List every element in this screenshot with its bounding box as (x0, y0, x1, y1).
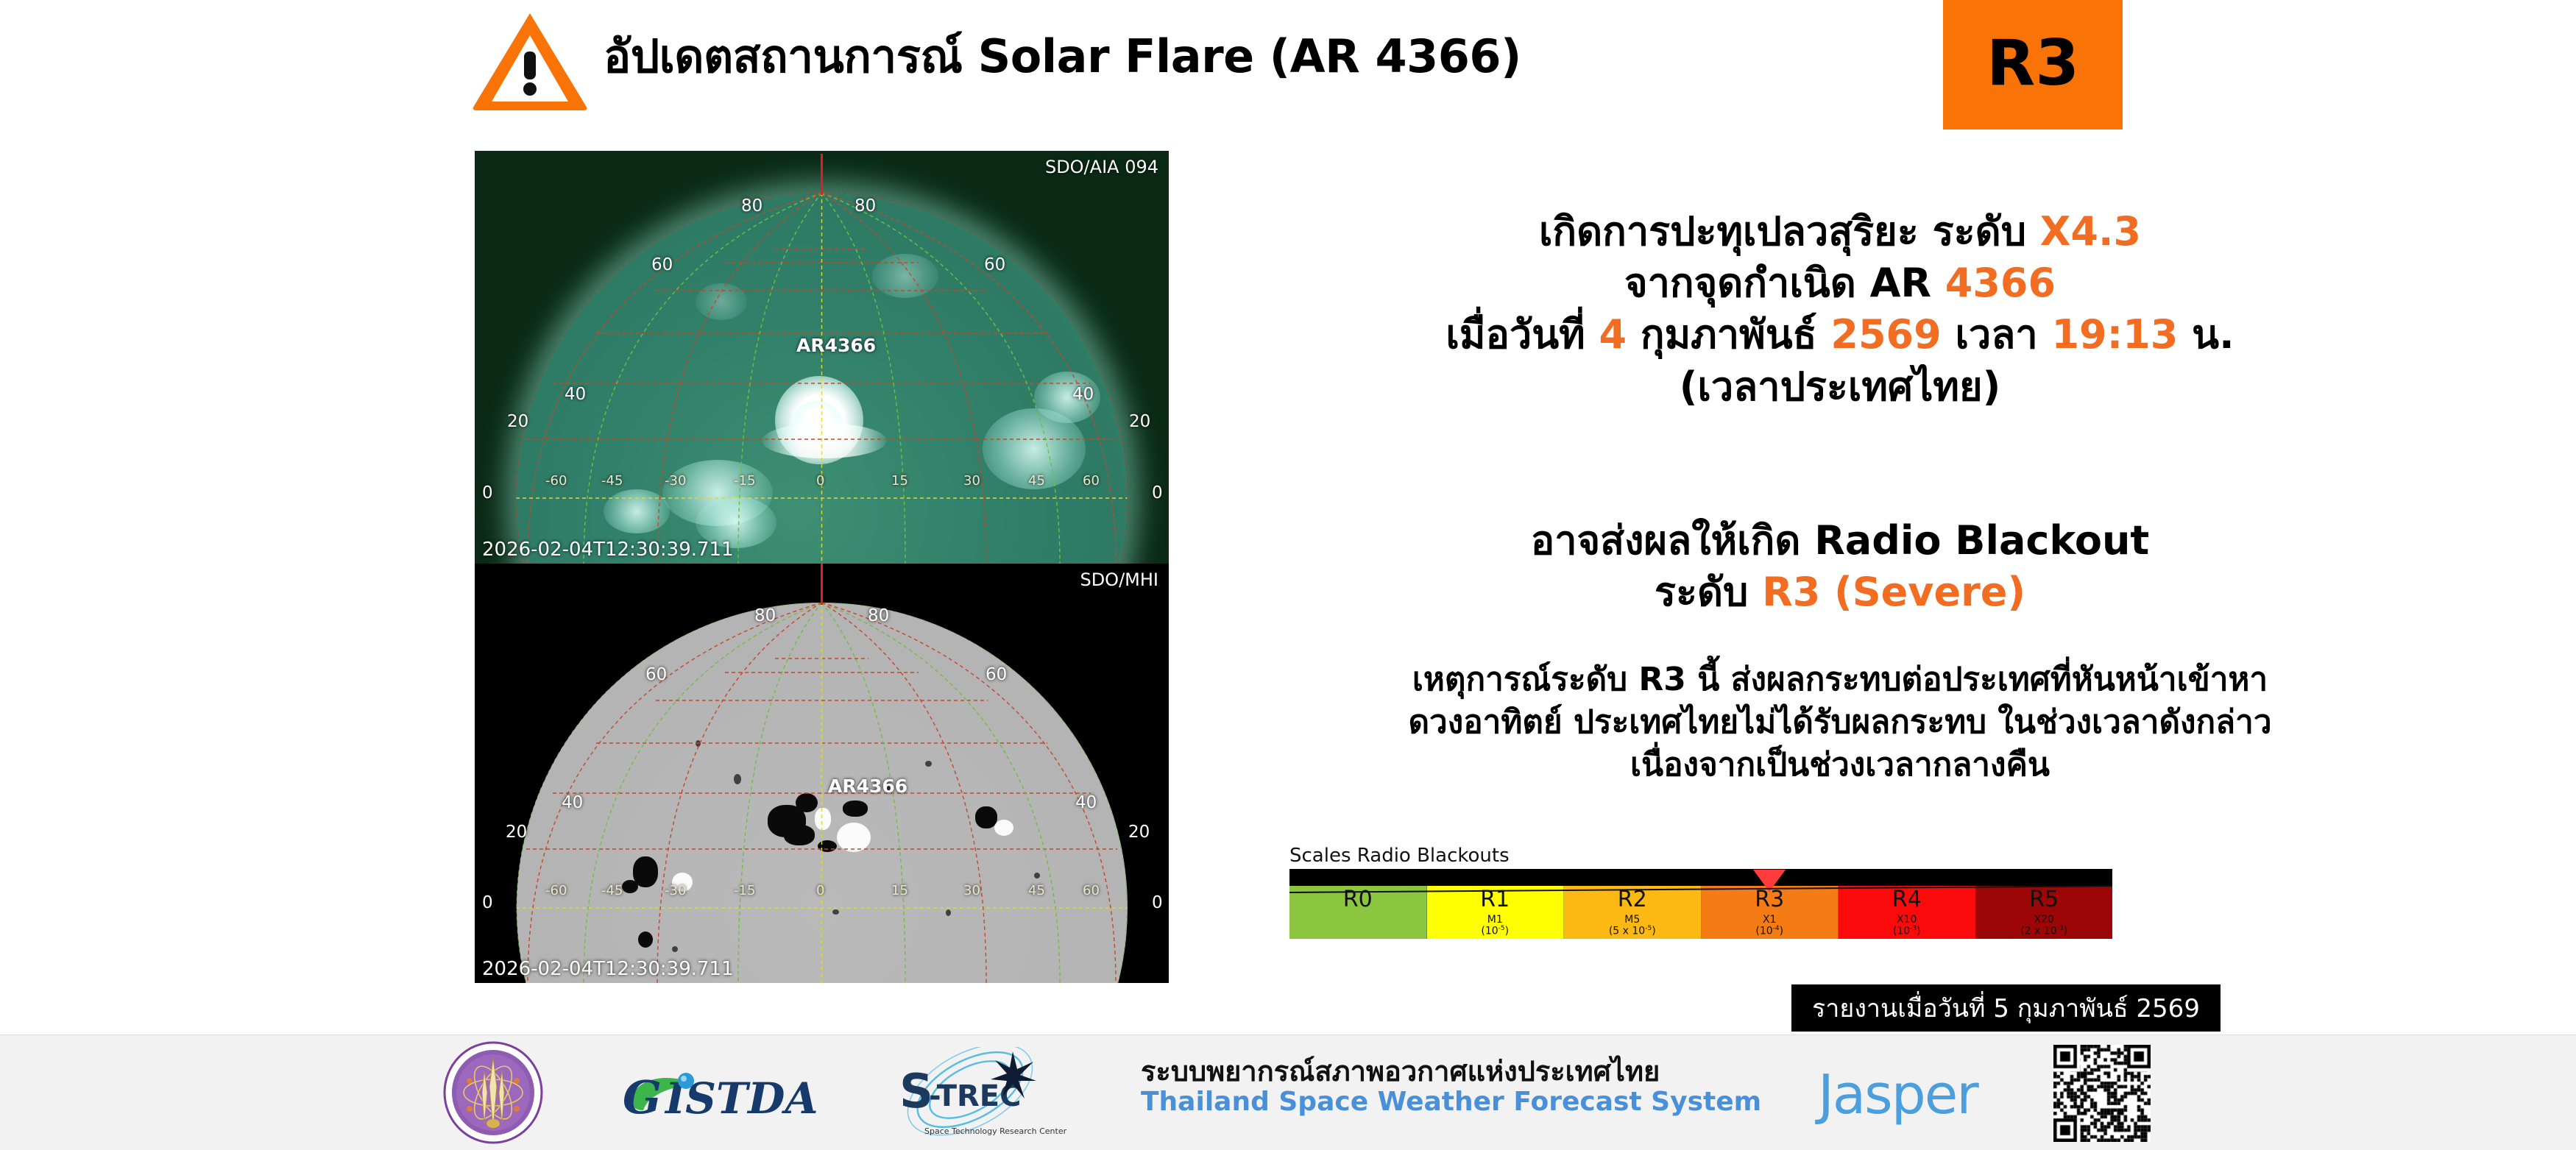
aia-lon-m60: -60 (545, 473, 567, 489)
aia-lon-m45: -45 (601, 473, 623, 489)
hmi-lat-60-left: 60 (645, 665, 667, 684)
aia-lat-40-left: 40 (565, 385, 586, 404)
report-date-label: รายงานเมื่อวันที่ 5 กุมภาพันธ์ 2569 (1812, 988, 2200, 1028)
impact-description: เหตุการณ์ระดับ R3 นี้ ส่งผลกระทบต่อประเท… (1163, 659, 2517, 787)
flare-origin-value: 4366 (1945, 260, 2056, 306)
page-header: อัปเดตสถานการณ์ Solar Flare (AR 4366) R3 (0, 0, 2576, 132)
aia-lat-60-right: 60 (984, 255, 1005, 274)
flare-origin-prefix: จากจุดกำเนิด AR (1624, 260, 1945, 306)
radio-blackout-level-line: ระดับ R3 (Severe) (1192, 567, 2488, 618)
aia-lat-20-left: 20 (507, 412, 528, 431)
hmi-lon-m45: -45 (601, 883, 623, 898)
hmi-lon-m30: -30 (665, 883, 686, 898)
strec-logo: S -TREC Space Technology Research Center (883, 1047, 1067, 1141)
hmi-lat-20-right: 20 (1128, 823, 1150, 842)
solar-image-hmi[interactable]: SDO/MHI AR4366 2026-02-04T12:30:39.711 8… (475, 564, 1169, 983)
date-prefix: เมื่อวันที่ (1446, 311, 1599, 358)
hmi-lon-0: 0 (816, 883, 824, 898)
solar-image-panels: SDO/AIA 094 AR4366 2026-02-04T12:30:39.7… (475, 151, 1169, 983)
report-date-box: รายงานเมื่อวันที่ 5 กุมภาพันธ์ 2569 (1791, 984, 2221, 1032)
scale-sublabels-row: M1(10-5)M5(5 x 10-5)X1(10-4)X10(10-3)X20… (1289, 912, 2112, 939)
hmi-timestamp: 2026-02-04T12:30:39.711 (482, 958, 734, 980)
scale-sublabel-r1: M1(10-5) (1427, 912, 1565, 939)
brand-name-thai: ระบบพยากรณ์สภาพอวกาศแห่งประเทศไทย (1141, 1056, 1761, 1087)
scale-sublabel-r5: X20(2 x 10-3) (1976, 912, 2113, 939)
heliographic-grid-overlay (475, 151, 1169, 564)
impact-para-line-3: เนื่องจากเป็นช่วงเวลากลางคืน (1163, 744, 2517, 787)
flare-class-value: X4.3 (2040, 208, 2141, 255)
flare-class-prefix: เกิดการปะทุเปลวสุริยะ ระดับ (1539, 208, 2040, 255)
warning-triangle-icon (471, 9, 589, 112)
aia-lon-60: 60 (1083, 473, 1100, 489)
hmi-lon-45: 45 (1028, 883, 1045, 898)
timezone-note: (เวลาประเทศไทย) (1192, 361, 2488, 413)
radio-blackout-line: อาจส่งผลให้เกิด Radio Blackout (1192, 515, 2488, 567)
page-footer: G ISTDA S -TREC Space Technology Researc… (0, 1034, 2576, 1150)
hmi-lon-m60: -60 (545, 883, 567, 898)
date-month: กุมภาพันธ์ (1627, 311, 1830, 358)
scale-sublabel-r3: X1(10-4) (1702, 912, 1839, 939)
scale-cell-r0: R0 (1289, 886, 1427, 912)
hmi-lon-60: 60 (1083, 883, 1100, 898)
mhesi-logo (442, 1041, 545, 1144)
hmi-source-label: SDO/MHI (1080, 569, 1158, 590)
aia-lon-15: 15 (891, 473, 908, 489)
impact-para-line-2: ดวงอาทิตย์ ประเทศไทยไม่ได้รับผลกระทบ ในช… (1163, 701, 2517, 744)
hmi-region-label: AR4366 (828, 775, 907, 797)
hmi-lat-0-left: 0 (482, 893, 493, 912)
aia-timestamp: 2026-02-04T12:30:39.711 (482, 539, 734, 561)
aia-lon-0: 0 (816, 473, 824, 489)
hmi-lat-40-left: 40 (562, 793, 583, 812)
gistda-logo: G ISTDA (618, 1062, 839, 1125)
scale-sublabel-r4: X10(10-3) (1839, 912, 1976, 939)
brand-name-english: Thailand Space Weather Forecast System (1141, 1087, 1761, 1117)
time-suffix: น. (2178, 311, 2234, 358)
aia-lat-80-left: 80 (741, 196, 762, 216)
scale-caption: Scales Radio Blackouts (1289, 845, 2112, 867)
scale-sublabel-r2: M5(5 x 10-5) (1564, 912, 1702, 939)
aia-source-label: SDO/AIA 094 (1045, 157, 1158, 177)
aia-lon-45: 45 (1028, 473, 1045, 489)
hmi-lon-m15: -15 (734, 883, 755, 898)
aia-lon-30: 30 (963, 473, 980, 489)
aia-lon-m30: -30 (665, 473, 686, 489)
jasper-logo-text: Jasper (1818, 1063, 1978, 1126)
impact-block: อาจส่งผลให้เกิด Radio Blackout ระดับ R3 … (1192, 515, 2488, 618)
hmi-lat-20-left: 20 (506, 823, 527, 842)
qr-code[interactable] (2053, 1045, 2151, 1142)
aia-region-label: AR4366 (796, 335, 876, 356)
radio-blackout-scale: Scales Radio Blackouts R0R1R2R3R4R5 M1(1… (1289, 845, 2112, 939)
hmi-lat-80-left: 80 (754, 606, 776, 625)
status-badge-r3: R3 (1943, 0, 2123, 129)
scale-cell-r5: R5 (1976, 886, 2113, 912)
flare-origin-line: จากจุดกำเนิด AR 4366 (1192, 258, 2488, 309)
date-day: 4 (1599, 311, 1627, 358)
time-value: 19:13 (2051, 311, 2178, 358)
aia-lon-m15: -15 (734, 473, 755, 489)
hmi-lon-15: 15 (891, 883, 908, 898)
solar-image-aia094[interactable]: SDO/AIA 094 AR4366 2026-02-04T12:30:39.7… (475, 151, 1169, 564)
hmi-lat-60-right: 60 (986, 665, 1007, 684)
scale-sublabel-r0 (1289, 912, 1427, 939)
aia-lat-0-right: 0 (1152, 483, 1163, 503)
aia-lat-80-right: 80 (854, 196, 876, 216)
level-value: R3 (Severe) (1762, 569, 2025, 615)
impact-para-line-1: เหตุการณ์ระดับ R3 นี้ ส่งผลกระทบต่อประเท… (1163, 659, 2517, 701)
heliographic-grid-overlay-hmi (475, 564, 1169, 983)
flare-summary-block: เกิดการปะทุเปลวสุริยะ ระดับ X4.3 จากจุดก… (1192, 206, 2488, 413)
svg-text:Space Technology Research Cent: Space Technology Research Center (924, 1126, 1067, 1136)
aia-lat-0-left: 0 (482, 483, 493, 503)
aia-lat-40-right: 40 (1072, 385, 1094, 404)
hmi-lat-0-right: 0 (1152, 893, 1163, 912)
flare-datetime-line: เมื่อวันที่ 4 กุมภาพันธ์ 2569 เวลา 19:13… (1192, 309, 2488, 361)
hmi-lon-30: 30 (963, 883, 980, 898)
aia-lat-20-right: 20 (1129, 412, 1150, 431)
jasper-logo: Jasper (1818, 1068, 2039, 1129)
scale-cell-r4: R4 (1839, 886, 1976, 912)
page-title: อัปเดตสถานการณ์ Solar Flare (AR 4366) (604, 21, 1521, 93)
brand-text-block: ระบบพยากรณ์สภาพอวกาศแห่งประเทศไทย Thaila… (1141, 1056, 1761, 1117)
svg-text:G: G (623, 1071, 662, 1124)
status-badge-label: R3 (1986, 32, 2079, 95)
time-prefix: เวลา (1942, 311, 2052, 358)
scale-track (1289, 869, 2112, 886)
flare-class-line: เกิดการปะทุเปลวสุริยะ ระดับ X4.3 (1192, 206, 2488, 258)
aia-lat-60-left: 60 (651, 255, 673, 274)
date-year: 2569 (1830, 311, 1941, 358)
hmi-lat-40-right: 40 (1075, 793, 1097, 812)
hmi-lat-80-right: 80 (868, 606, 889, 625)
level-prefix: ระดับ (1655, 569, 1762, 615)
